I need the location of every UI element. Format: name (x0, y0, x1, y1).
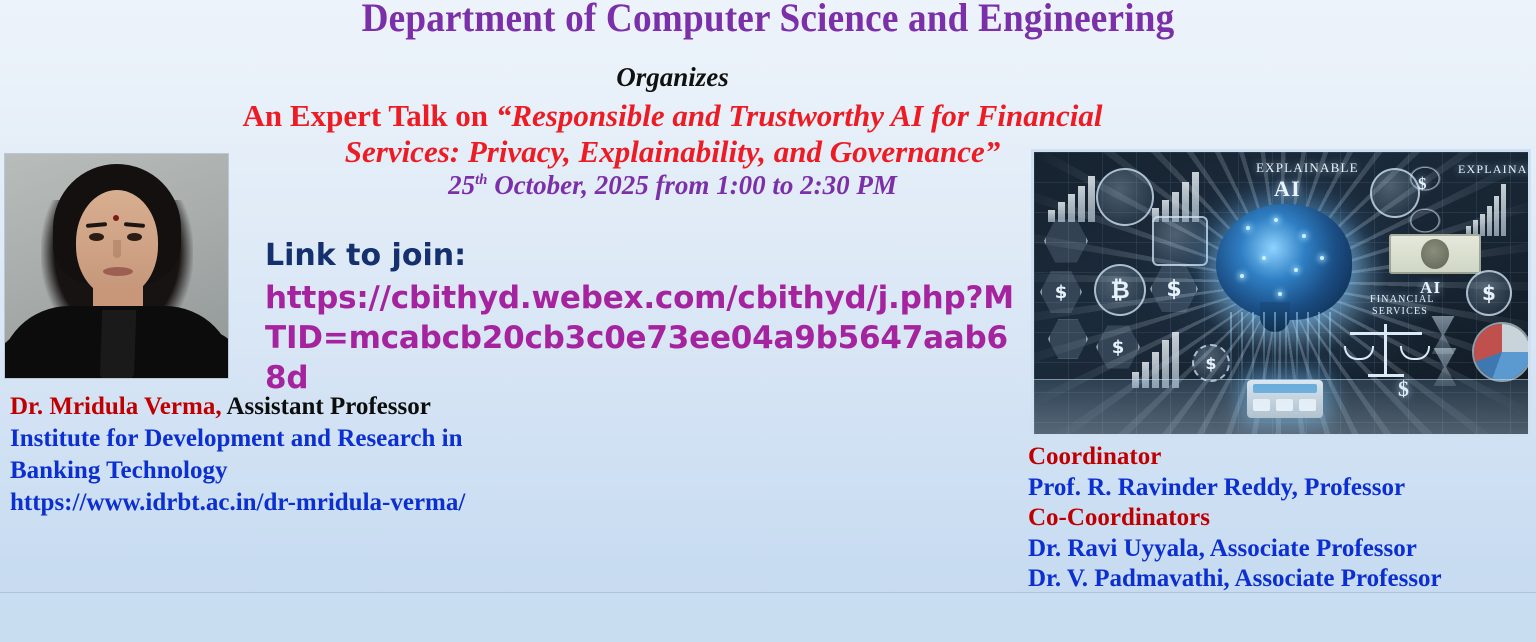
dollar-circle-icon: $ (1192, 344, 1230, 382)
artwork-floor (1034, 379, 1528, 434)
join-link-label: Link to join: (265, 238, 466, 273)
event-day: 25 (448, 170, 475, 200)
artwork-label-financial: FINANCIAL (1370, 294, 1435, 305)
coordinator-name: Prof. R. Ravinder Reddy, Professor (1028, 473, 1528, 504)
speaker-profile-link[interactable]: https://www.idrbt.ac.in/dr-mridula-verma… (10, 487, 650, 519)
ai-financial-artwork: ₿ $ $ $ $ $ (1034, 152, 1528, 434)
bar-chart-icon-2 (1152, 170, 1199, 222)
orbit-icon (1370, 168, 1420, 218)
artwork-label-explainable-right: EXPLAINABLE (1458, 162, 1528, 177)
pie-chart-icon (1474, 324, 1528, 380)
portrait-eye-left (89, 233, 104, 241)
talk-prefix: An Expert Talk on (243, 98, 496, 133)
footer-strip (0, 593, 1536, 642)
co-coordinator-heading: Co-Coordinators (1028, 503, 1528, 534)
co-coordinator-name-1: Dr. Ravi Uyyala, Associate Professor (1028, 534, 1528, 565)
speaker-designation: Assistant Professor (222, 393, 431, 420)
poster-canvas: Department of Computer Science and Engin… (0, 0, 1536, 642)
dollar-bill-icon (1389, 234, 1481, 274)
speaker-name: Dr. Mridula Verma, (10, 393, 222, 420)
event-date-rest: October, 2025 from 1:00 to 2:30 PM (487, 170, 896, 200)
artwork-label-services: SERVICES (1372, 306, 1428, 317)
justice-scales-icon (1344, 320, 1428, 382)
talk-title-part-2: Services: Privacy, Explainability, and G… (345, 134, 1001, 169)
portrait-mouth (103, 267, 133, 276)
organizers-block: Coordinator Prof. R. Ravinder Reddy, Pro… (1028, 442, 1528, 595)
speaker-details: Dr. Mridula Verma, Assistant Professor I… (10, 391, 650, 519)
radar-dial-icon (1096, 168, 1154, 226)
organizes-label: Organizes (0, 62, 1345, 93)
pie-chart-icon-small (1152, 216, 1208, 266)
speaker-photo (5, 154, 228, 378)
coordinator-heading: Coordinator (1028, 442, 1528, 473)
artwork-label-infinity: $ (1418, 174, 1428, 194)
co-coordinator-name-2: Dr. V. Padmavathi, Associate Professor (1028, 564, 1528, 595)
bitcoin-coin-icon[interactable]: ₿ (1094, 264, 1146, 316)
bar-chart-icon-1 (1048, 174, 1095, 222)
talk-title-line-1: An Expert Talk on “Responsible and Trust… (0, 98, 1345, 134)
speaker-organization-line-1: Institute for Development and Research i… (10, 423, 650, 455)
speaker-organization-line-2: Banking Technology (10, 455, 650, 487)
portrait-bindi (113, 215, 119, 221)
artwork-label-ai: AI (1274, 176, 1301, 202)
bar-chart-icon-4 (1466, 180, 1506, 236)
event-day-suffix: th (475, 172, 487, 188)
webex-join-link[interactable]: https://cbithyd.webex.com/cbithyd/j.php?… (265, 278, 1025, 398)
talk-title-part-1: “Responsible and Trustworthy AI for Fina… (496, 98, 1103, 133)
artwork-label-explainable: EXPLAINABLE (1256, 160, 1359, 176)
portrait-eye-right (127, 233, 142, 241)
dollar-glow-icon: $ (1466, 270, 1512, 316)
portrait-nose (113, 240, 121, 258)
portrait-collar (100, 310, 137, 378)
page-title: Department of Computer Science and Engin… (54, 0, 1482, 41)
ai-brain-icon (1216, 204, 1352, 320)
